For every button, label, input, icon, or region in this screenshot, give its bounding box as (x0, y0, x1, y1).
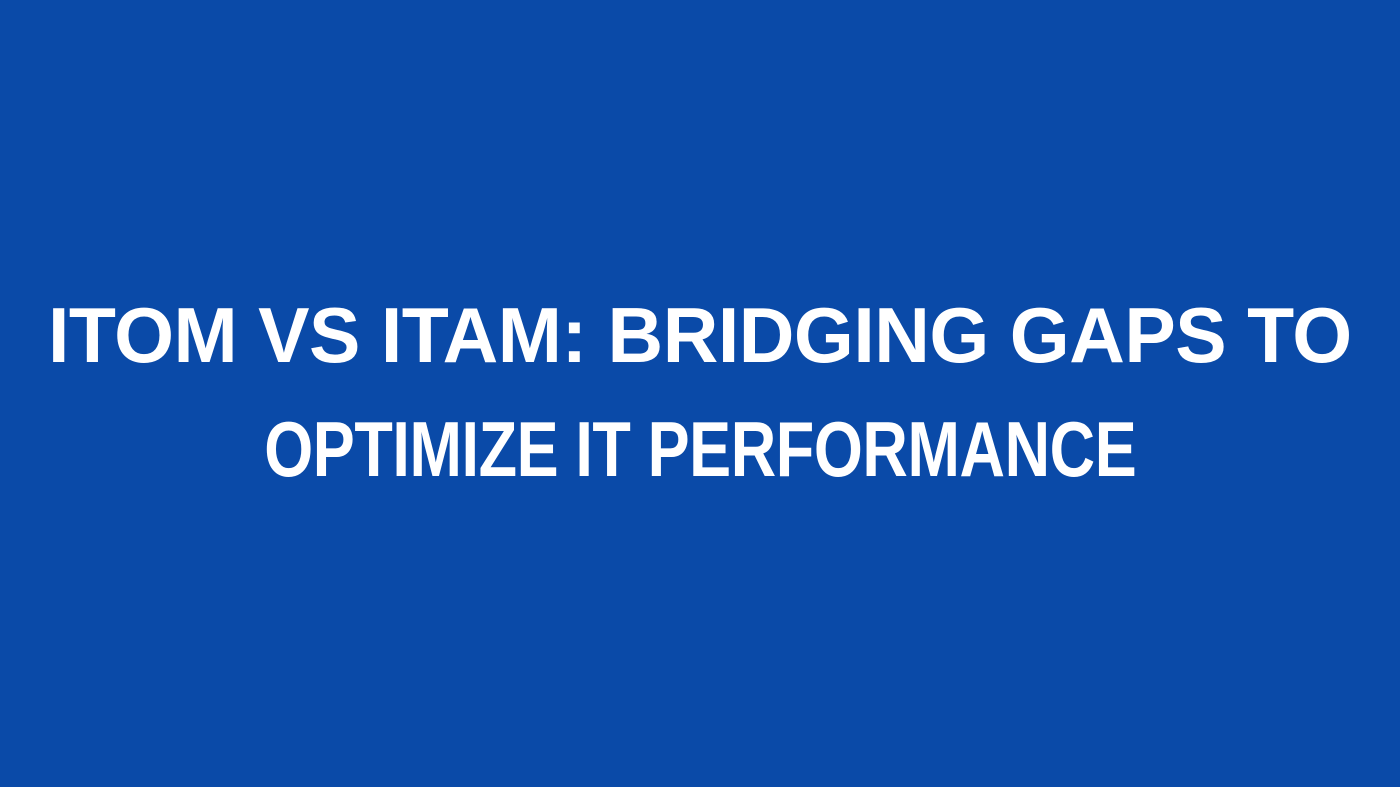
headline-block: ITOM VS ITAM: BRIDGING GAPS TO OPTIMIZE … (0, 278, 1400, 506)
headline-line-2: OPTIMIZE IT PERFORMANCE (264, 392, 1136, 506)
headline-line-1: ITOM VS ITAM: BRIDGING GAPS TO (48, 278, 1352, 392)
title-card: ITOM VS ITAM: BRIDGING GAPS TO OPTIMIZE … (0, 0, 1400, 787)
